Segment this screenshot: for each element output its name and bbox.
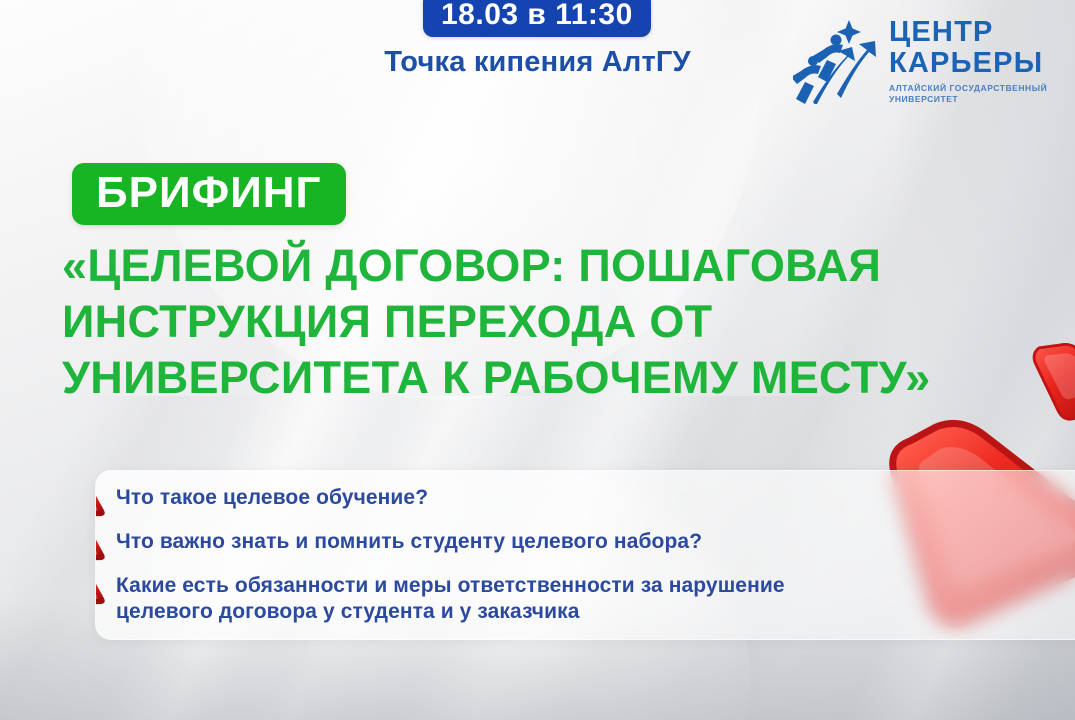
career-center-emblem-icon: [793, 16, 879, 104]
list-item: Какие есть обязанности и меры ответствен…: [96, 572, 1075, 624]
question-line-1: Что важно знать и помнить студенту целев…: [116, 530, 702, 553]
career-center-logo: ЦЕНТР КАРЬЕРЫ АЛТАЙСКИЙ ГОСУДАРСТВЕННЫЙ …: [793, 14, 1075, 106]
title-line-3: УНИВЕРСИТЕТА К РАБОЧЕМУ МЕСТУ»: [62, 350, 1047, 406]
question-line-2: целевого договора у студента и у заказчи…: [116, 599, 785, 625]
poster-canvas: 18.03 в 11:30 Точка кипения АлтГУ ЦЕНТР …: [0, 0, 1075, 720]
questions-list: Что такое целевое обучение? Что важно зн…: [96, 471, 1075, 634]
event-date-badge: 18.03 в 11:30: [423, 0, 651, 37]
question-line-1: Какие есть обязанности и меры ответствен…: [116, 574, 785, 597]
logo-line-2: КАРЬЕРЫ: [889, 49, 1075, 78]
logo-subtitle: АЛТАЙСКИЙ ГОСУДАРСТВЕННЫЙ УНИВЕРСИТЕТ: [889, 83, 1075, 106]
title-line-1: «ЦЕЛЕВОЙ ДОГОВОР: ПОШАГОВАЯ: [62, 238, 1047, 294]
red-triangle-bullet-icon: [95, 488, 106, 518]
question-text: Что такое целевое обучение?: [116, 485, 428, 511]
briefing-badge: БРИФИНГ: [72, 163, 346, 225]
poster-title: «ЦЕЛЕВОЙ ДОГОВОР: ПОШАГОВАЯ ИНСТРУКЦИЯ П…: [62, 238, 1047, 405]
questions-card: Что такое целевое обучение? Что важно зн…: [95, 470, 1075, 640]
title-line-2: ИНСТРУКЦИЯ ПЕРЕХОДА ОТ: [62, 294, 1047, 350]
question-text: Какие есть обязанности и меры ответствен…: [116, 573, 785, 624]
list-item: Что важно знать и помнить студенту целев…: [96, 528, 1075, 562]
list-item: Что такое целевое обучение?: [96, 484, 1075, 518]
question-line-1: Что такое целевое обучение?: [116, 486, 428, 509]
red-triangle-bullet-icon: [95, 576, 106, 606]
logo-line-1: ЦЕНТР: [889, 18, 1075, 47]
red-triangle-bullet-icon: [95, 532, 106, 562]
question-text: Что важно знать и помнить студенту целев…: [116, 529, 702, 555]
